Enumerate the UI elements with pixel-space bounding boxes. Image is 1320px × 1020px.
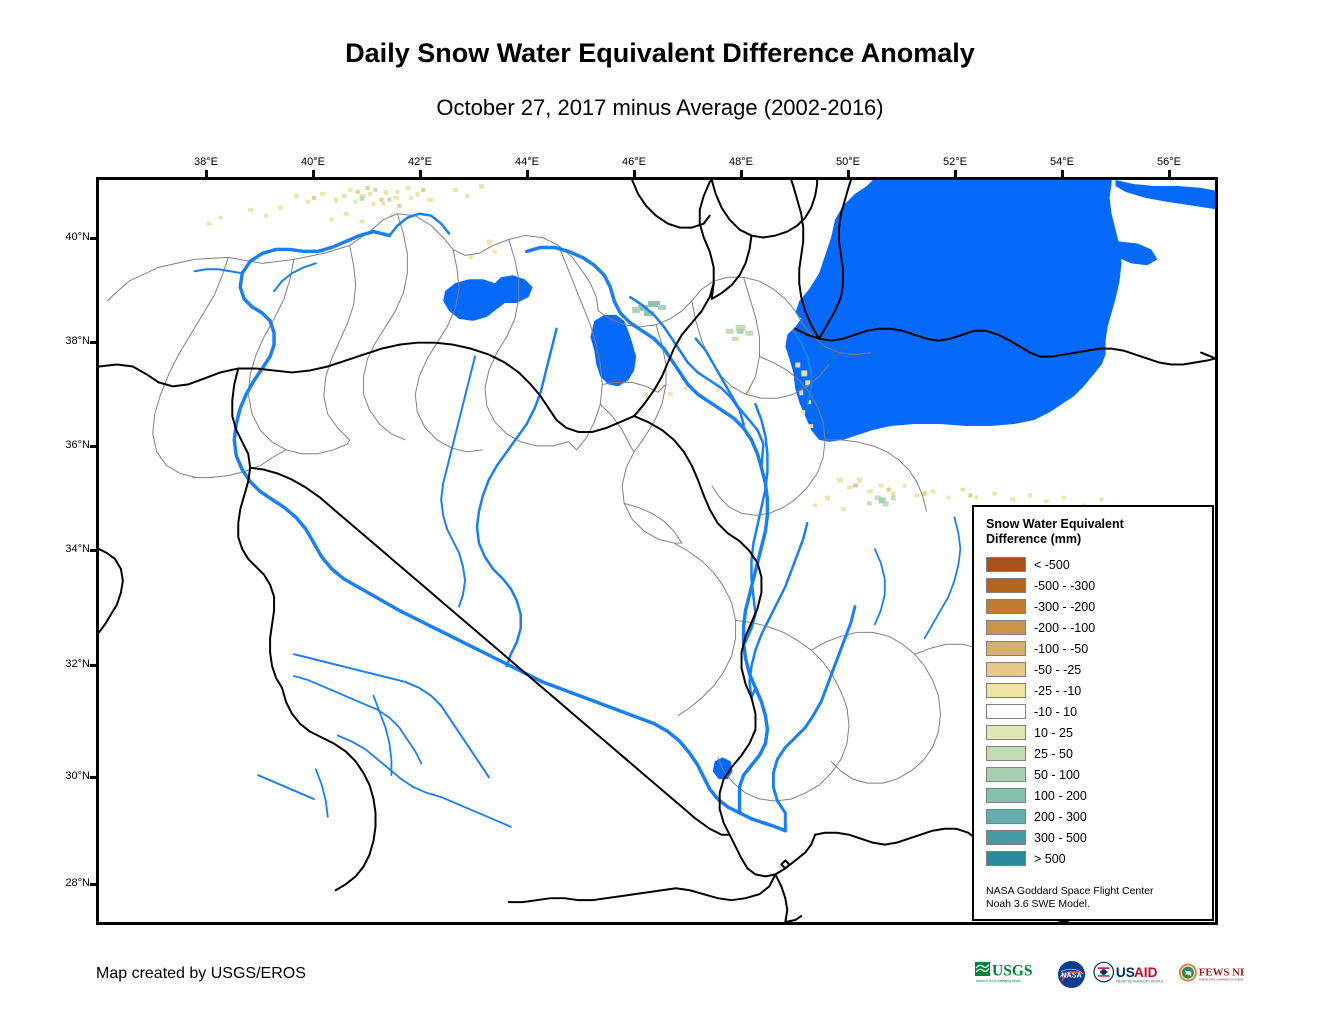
svg-text:AID: AID — [1134, 965, 1158, 980]
legend-swatch — [986, 788, 1026, 803]
svg-text:science for a changing world: science for a changing world — [976, 979, 1020, 983]
legend-swatch — [986, 767, 1026, 782]
legend-label: 100 - 200 — [1034, 789, 1087, 803]
lat-tick-36n — [90, 445, 99, 448]
legend-row: -25 - -10 — [986, 680, 1212, 701]
page-subtitle: October 27, 2017 minus Average (2002-201… — [0, 95, 1320, 121]
lon-label-42e: 42°E — [390, 156, 450, 168]
lat-label-40n: 40°N — [30, 231, 90, 243]
lon-label-54e: 54°E — [1032, 156, 1092, 168]
legend-row: -500 - -300 — [986, 575, 1212, 596]
legend-swatch — [986, 683, 1026, 698]
lon-label-48e: 48°E — [711, 156, 771, 168]
legend-swatch — [986, 830, 1026, 845]
lat-label-38n: 38°N — [30, 335, 90, 347]
legend-row: -100 - -50 — [986, 638, 1212, 659]
page-title: Daily Snow Water Equivalent Difference A… — [0, 38, 1320, 69]
nasa-logo-graphic: NASA — [1057, 960, 1086, 989]
lon-label-40e: 40°E — [283, 156, 343, 168]
legend-source-line2: Noah 3.6 SWE Model. — [986, 898, 1154, 911]
svg-text:US: US — [1116, 965, 1135, 980]
legend-row: 25 - 50 — [986, 743, 1212, 764]
lon-label-44e: 44°E — [497, 156, 557, 168]
svg-text:FROM THE AMERICAN PEOPLE: FROM THE AMERICAN PEOPLE — [1116, 979, 1163, 983]
legend-swatch — [986, 641, 1026, 656]
legend-row: 100 - 200 — [986, 785, 1212, 806]
fewsnet-logo-graphic: FEWS NET FAMINE EARLY WARNING SYSTEMS NE… — [1178, 959, 1244, 989]
legend-source-note: NASA Goddard Space Flight Center Noah 3.… — [986, 885, 1154, 911]
legend-swatch — [986, 620, 1026, 635]
lon-tick-40e — [312, 170, 315, 179]
legend-swatch — [986, 746, 1026, 761]
lon-tick-54e — [1061, 170, 1064, 179]
legend-label: 300 - 500 — [1034, 831, 1087, 845]
agency-logo-row: USGS science for a changing world NASA U… — [975, 953, 1220, 995]
legend-label: 200 - 300 — [1034, 810, 1087, 824]
legend-class-list: < -500-500 - -300-300 - -200-200 - -100-… — [986, 554, 1212, 869]
lat-label-36n: 36°N — [30, 439, 90, 451]
legend-swatch — [986, 725, 1026, 740]
lon-label-52e: 52°E — [925, 156, 985, 168]
svg-text:FEWS NET: FEWS NET — [1199, 966, 1244, 978]
map-credit: Map created by USGS/EROS — [96, 965, 306, 983]
lon-tick-50e — [847, 170, 850, 179]
legend-row: -50 - -25 — [986, 659, 1212, 680]
legend-label: -500 - -300 — [1034, 579, 1095, 593]
svg-text:FAMINE EARLY WARNING SYSTEMS N: FAMINE EARLY WARNING SYSTEMS NETWORK — [1199, 978, 1244, 982]
lat-tick-32n — [90, 664, 99, 667]
legend-label: -300 - -200 — [1034, 600, 1095, 614]
legend-swatch — [986, 704, 1026, 719]
legend-title-line1: Snow Water Equivalent — [986, 517, 1186, 532]
legend-row: 10 - 25 — [986, 722, 1212, 743]
lat-label-32n: 32°N — [30, 658, 90, 670]
lon-tick-38e — [205, 170, 208, 179]
lat-tick-34n — [90, 549, 99, 552]
legend-swatch — [986, 599, 1026, 614]
legend-label: -50 - -25 — [1034, 663, 1081, 677]
legend-swatch — [986, 578, 1026, 593]
lat-label-34n: 34°N — [30, 543, 90, 555]
legend-row: 300 - 500 — [986, 827, 1212, 848]
legend-row: 50 - 100 — [986, 764, 1212, 785]
legend-swatch — [986, 662, 1026, 677]
map-legend: Snow Water Equivalent Difference (mm) < … — [972, 505, 1214, 921]
fewsnet-logo[interactable]: FEWS NET FAMINE EARLY WARNING SYSTEMS NE… — [1178, 957, 1244, 991]
legend-label: -10 - 10 — [1034, 705, 1077, 719]
legend-label: 10 - 25 — [1034, 726, 1073, 740]
svg-text:NASA: NASA — [1061, 970, 1082, 979]
lon-tick-52e — [954, 170, 957, 179]
lat-label-30n: 30°N — [30, 770, 90, 782]
lake-urmia-polygon — [443, 275, 533, 321]
legend-label: -25 - -10 — [1034, 684, 1081, 698]
lat-tick-38n — [90, 341, 99, 344]
legend-label: < -500 — [1034, 558, 1070, 572]
lat-tick-40n — [90, 237, 99, 240]
usgs-logo-graphic: USGS science for a changing world — [975, 959, 1050, 989]
lon-label-46e: 46°E — [604, 156, 664, 168]
svg-text:USGS: USGS — [992, 963, 1033, 980]
lon-label-50e: 50°E — [818, 156, 878, 168]
lon-tick-46e — [633, 170, 636, 179]
legend-row: -10 - 10 — [986, 701, 1212, 722]
caspian-northeast-arm — [1116, 180, 1215, 214]
legend-title-line2: Difference (mm) — [986, 532, 1186, 547]
legend-label: -100 - -50 — [1034, 642, 1088, 656]
legend-row: > 500 — [986, 848, 1212, 869]
usaid-logo[interactable]: US AID FROM THE AMERICAN PEOPLE — [1093, 957, 1171, 991]
lon-tick-44e — [526, 170, 529, 179]
legend-row: -300 - -200 — [986, 596, 1212, 617]
legend-title: Snow Water Equivalent Difference (mm) — [986, 517, 1186, 547]
usgs-logo[interactable]: USGS science for a changing world — [975, 957, 1050, 991]
legend-swatch — [986, 851, 1026, 866]
lon-label-38e: 38°E — [176, 156, 236, 168]
legend-label: 50 - 100 — [1034, 768, 1080, 782]
legend-label: -200 - -100 — [1034, 621, 1095, 635]
legend-row: -200 - -100 — [986, 617, 1212, 638]
legend-label: 25 - 50 — [1034, 747, 1073, 761]
usaid-logo-graphic: US AID FROM THE AMERICAN PEOPLE — [1093, 959, 1171, 989]
lat-tick-28n — [90, 883, 99, 886]
nasa-logo[interactable]: NASA — [1057, 957, 1086, 991]
lon-tick-56e — [1168, 170, 1171, 179]
legend-source-line1: NASA Goddard Space Flight Center — [986, 885, 1154, 898]
legend-row: < -500 — [986, 554, 1212, 575]
lon-tick-42e — [419, 170, 422, 179]
lon-tick-48e — [740, 170, 743, 179]
lat-label-28n: 28°N — [30, 877, 90, 889]
legend-label: > 500 — [1034, 852, 1066, 866]
legend-swatch — [986, 809, 1026, 824]
legend-row: 200 - 300 — [986, 806, 1212, 827]
legend-swatch — [986, 557, 1026, 572]
lon-label-56e: 56°E — [1139, 156, 1199, 168]
lat-tick-30n — [90, 776, 99, 779]
